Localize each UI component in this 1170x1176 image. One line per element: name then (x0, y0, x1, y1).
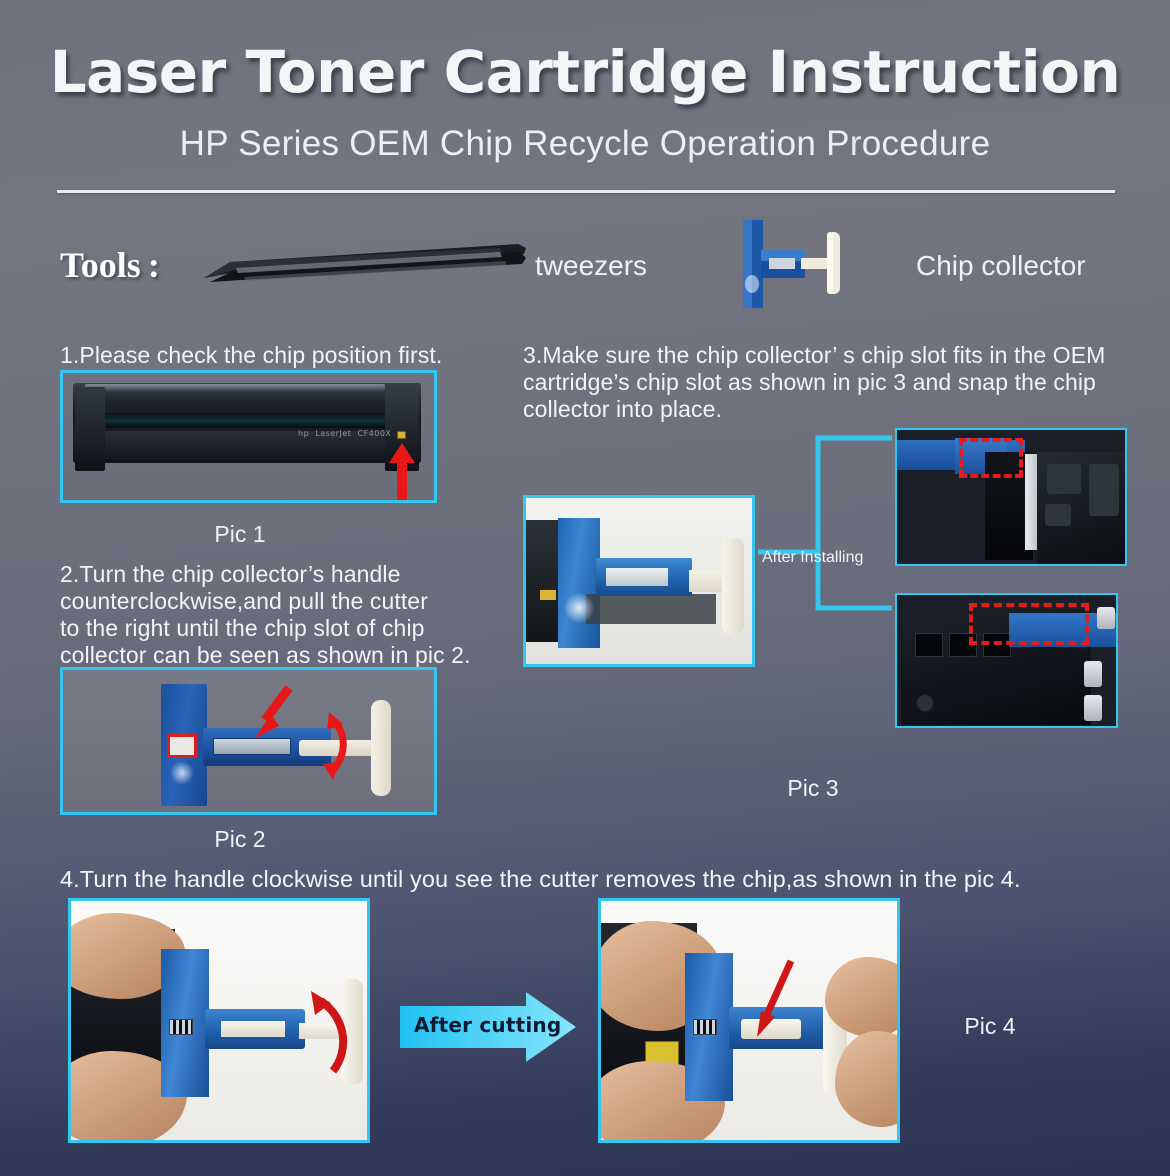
step-3-text: 3.Make sure the chip collector’ s chip s… (523, 342, 1123, 423)
step-4-text: 4.Turn the handle clockwise until you se… (60, 866, 1120, 894)
pic-3-detail-top-image (895, 428, 1127, 566)
after-installing-label: After Installing (757, 547, 868, 569)
step-2-line-4: collector can be seen as shown in pic 2. (60, 642, 471, 668)
pic-2-caption: Pic 2 (160, 826, 320, 853)
chip-collector-label: Chip collector (916, 250, 1086, 282)
pic-3-caption: Pic 3 (733, 775, 893, 802)
tweezers-icon (200, 238, 530, 290)
pic-1-image: hp LaserJet CF400X (60, 370, 437, 503)
red-dashed-highlight (959, 438, 1023, 478)
step-1-text: 1.Please check the chip position first. (60, 342, 530, 369)
header-divider (57, 190, 1115, 193)
red-highlight-box (167, 734, 197, 758)
tweezers-label: tweezers (535, 250, 647, 282)
pic-3-detail-bottom-image (895, 593, 1118, 728)
step-3-line-3: collector into place. (523, 396, 1123, 423)
red-dashed-highlight (969, 603, 1089, 645)
step-3-line-1: 3.Make sure the chip collector’ s chip s… (523, 342, 1123, 369)
after-cutting-label: After cutting (414, 1013, 561, 1037)
pic-2-image (60, 667, 437, 815)
step-2-text: 2.Turn the chip collector’s handle count… (60, 561, 480, 670)
cartridge-chip (397, 431, 406, 439)
step-2-line-1: 2.Turn the chip collector’s handle (60, 561, 401, 587)
pic-4-after-image (598, 898, 900, 1143)
pic-4-caption: Pic 4 (910, 1013, 1070, 1040)
page-subtitle: HP Series OEM Chip Recycle Operation Pro… (0, 124, 1170, 164)
cyan-connector-lines (758, 428, 898, 730)
chip-collector-icon (735, 218, 885, 310)
red-up-arrow-icon (388, 443, 416, 503)
instruction-poster: Laser Toner Cartridge Instruction HP Ser… (0, 0, 1170, 1176)
pic-3-image (523, 495, 755, 667)
red-curved-arrow-icon (297, 985, 353, 1077)
tools-label: Tools : (60, 244, 160, 286)
pic-4-before-image (68, 898, 370, 1143)
red-curved-arrow-icon (307, 710, 353, 782)
step-2-line-2: counterclockwise,and pull the cutter (60, 588, 428, 614)
red-pointer-arrow-icon (751, 957, 799, 1041)
step-3-line-2: cartridge’s chip slot as shown in pic 3 … (523, 369, 1123, 396)
page-title: Laser Toner Cartridge Instruction (0, 38, 1170, 106)
step-2-line-3: to the right until the chip slot of chip (60, 615, 425, 641)
red-diagonal-arrow-icon (253, 686, 293, 740)
pic-1-caption: Pic 1 (160, 521, 320, 548)
